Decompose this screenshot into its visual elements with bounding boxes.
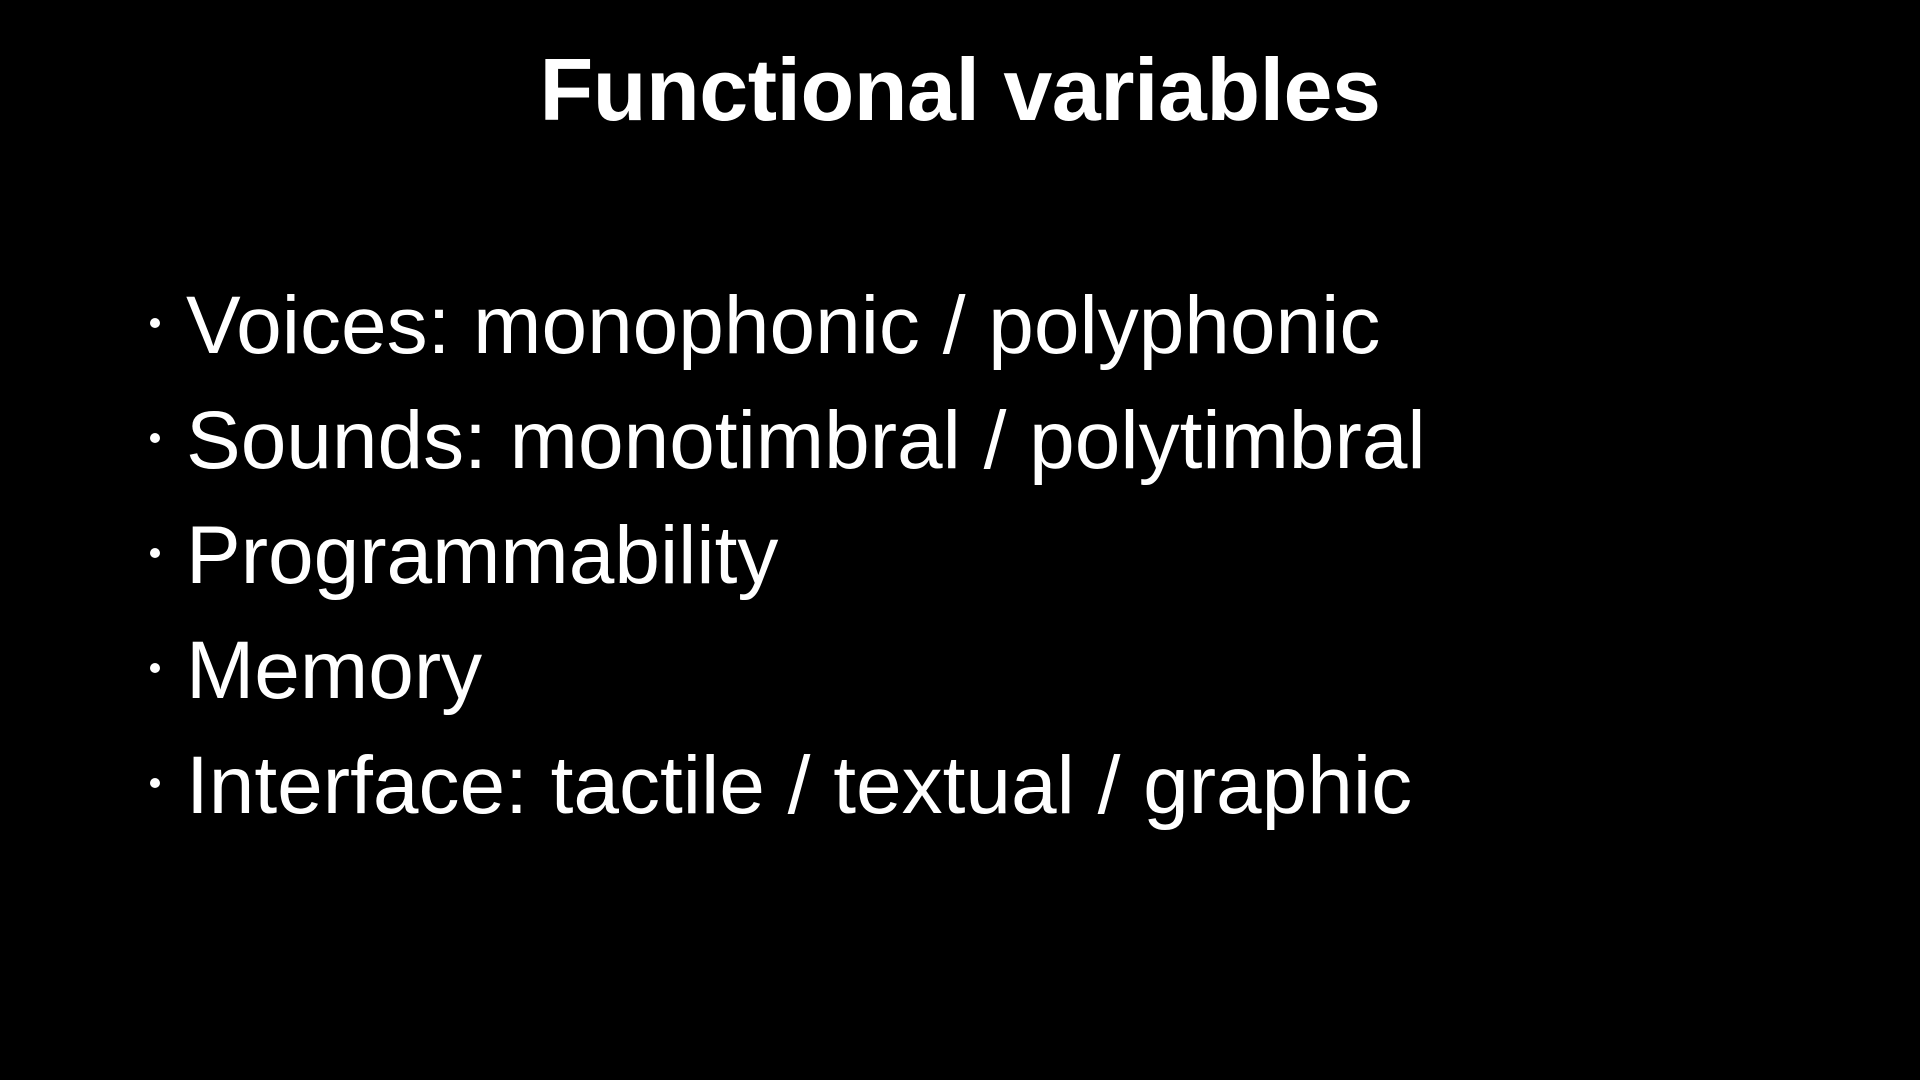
bullet-dot-icon <box>150 663 160 673</box>
bullet-dot-icon <box>150 548 160 558</box>
bullet-dot-icon <box>150 778 160 788</box>
list-item-label: Sounds: monotimbral / polytimbral <box>186 383 1426 498</box>
list-item: Sounds: monotimbral / polytimbral <box>186 383 1886 498</box>
bullet-dot-icon <box>150 318 160 328</box>
list-item-label: Voices: monophonic / polyphonic <box>186 268 1380 383</box>
list-item-label: Programmability <box>186 498 778 613</box>
bullet-dot-icon <box>150 433 160 443</box>
list-item: Interface: tactile / textual / graphic <box>186 728 1886 843</box>
list-item: Programmability <box>186 498 1886 613</box>
page-title: Functional variables <box>0 46 1920 134</box>
list-item: Memory <box>186 613 1886 728</box>
list-item-label: Memory <box>186 613 482 728</box>
list-item: Voices: monophonic / polyphonic <box>186 268 1886 383</box>
bullet-list: Voices: monophonic / polyphonic Sounds: … <box>186 268 1886 843</box>
presentation-slide: Functional variables Voices: monophonic … <box>0 0 1920 1080</box>
list-item-label: Interface: tactile / textual / graphic <box>186 728 1412 843</box>
